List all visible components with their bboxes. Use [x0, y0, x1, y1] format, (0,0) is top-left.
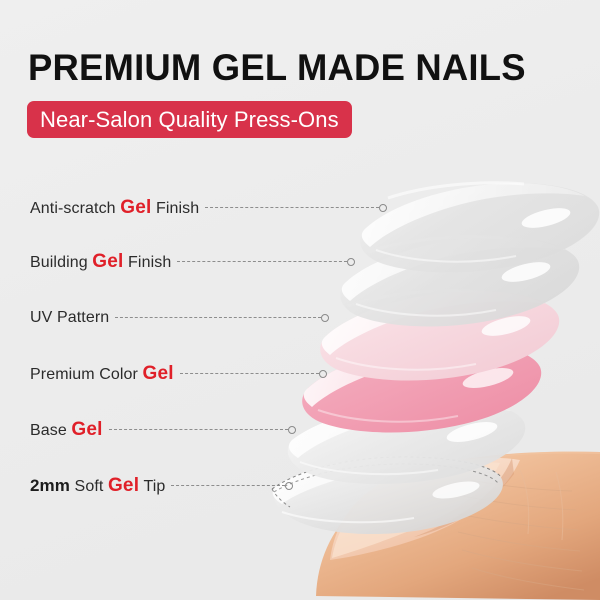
leader-endpoint-dot	[347, 258, 355, 266]
fingertip-illustration	[316, 452, 600, 600]
callout-premium-color-gel: Premium Color Gel	[30, 362, 319, 386]
anti-scratch-gel-finish-layer	[360, 183, 599, 273]
leader-endpoint-dot	[319, 370, 327, 378]
callout-label: Anti-scratch Gel Finish	[30, 197, 199, 219]
base-gel-layer	[288, 399, 526, 484]
callout-label: Premium Color Gel	[30, 363, 174, 385]
callout-building-gel-finish: Building Gel Finish	[30, 250, 347, 274]
leader-line	[171, 485, 285, 487]
page-title: PREMIUM GEL MADE NAILS	[28, 47, 526, 89]
uv-pattern-layer	[320, 291, 559, 381]
callout-base-gel: Base Gel	[30, 418, 288, 442]
callout-label: Base Gel	[30, 419, 103, 441]
premium-color-gel-layer	[302, 343, 541, 433]
leader-endpoint-dot	[288, 426, 296, 434]
callout-label: 2mm Soft Gel Tip	[30, 475, 165, 497]
leader-line	[109, 429, 288, 431]
leader-endpoint-dot	[379, 204, 387, 212]
callout-label: Building Gel Finish	[30, 251, 171, 273]
leader-endpoint-dot	[285, 482, 293, 490]
callout-uv-pattern: UV Pattern	[30, 306, 321, 330]
building-gel-finish-layer	[340, 237, 579, 327]
leader-endpoint-dot	[321, 314, 329, 322]
callout-label: UV Pattern	[30, 309, 109, 327]
subtitle-badge-label: Near-Salon Quality Press-Ons	[40, 109, 339, 131]
leader-line	[177, 261, 347, 263]
subtitle-badge: Near-Salon Quality Press-Ons	[27, 101, 352, 138]
leader-line	[180, 373, 319, 375]
soft-gel-tip-layer	[272, 456, 503, 534]
nail-layer-stack-artwork	[0, 0, 600, 600]
callout-anti-scratch-gel-finish: Anti-scratch Gel Finish	[30, 196, 379, 220]
product-infographic: PREMIUM GEL MADE NAILS Near-Salon Qualit…	[0, 0, 600, 600]
leader-line	[115, 317, 321, 319]
leader-line	[205, 207, 379, 209]
callout-soft-gel-tip: 2mm Soft Gel Tip	[30, 474, 285, 498]
